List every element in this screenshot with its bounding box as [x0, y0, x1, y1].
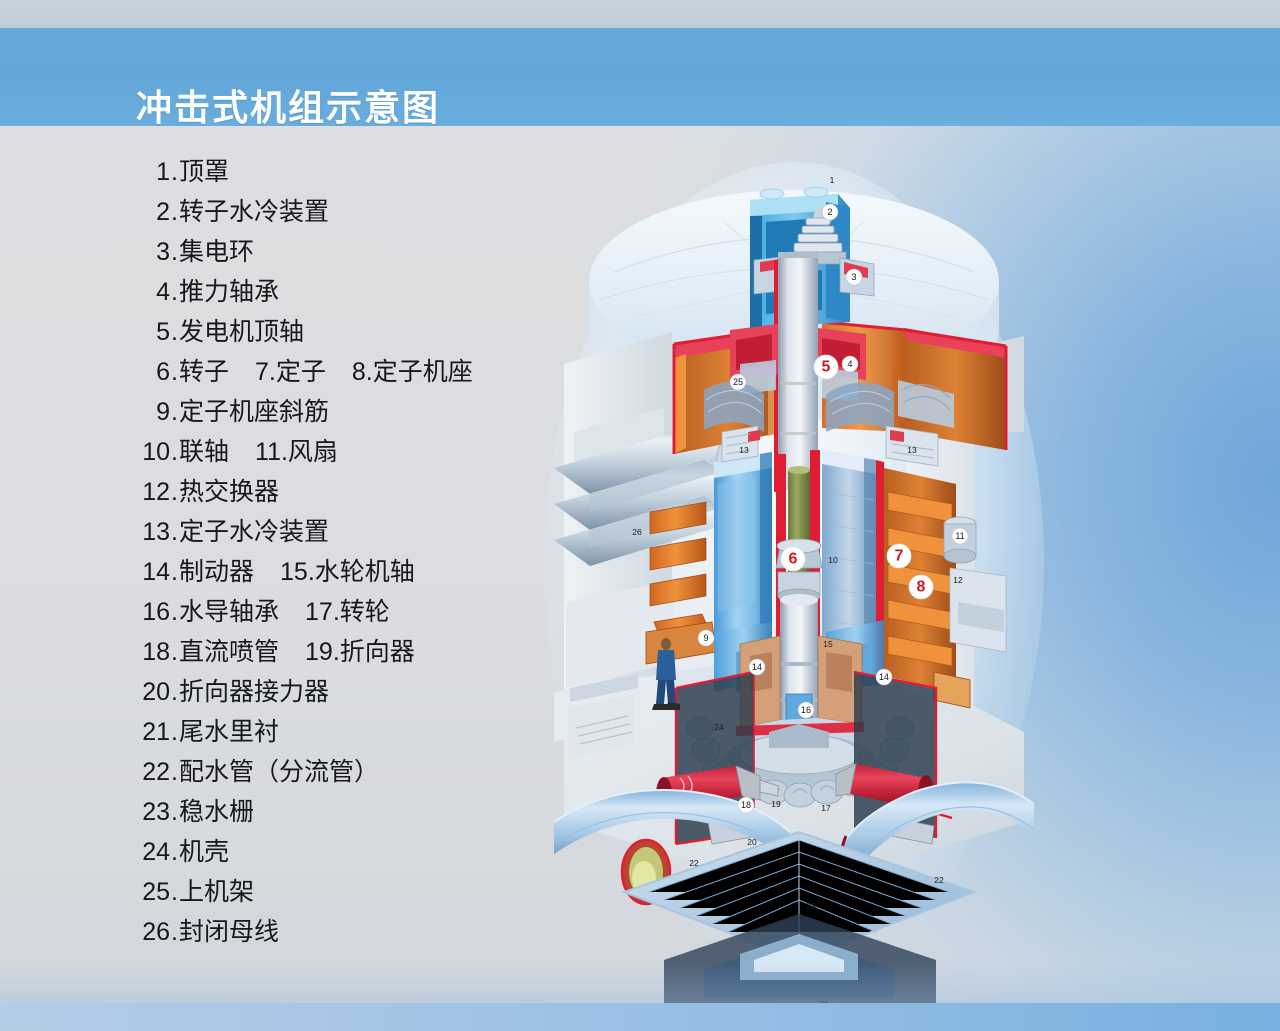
- legend-item-label: 配水管（分流管）: [179, 752, 379, 792]
- callout-marker: 24: [714, 722, 724, 732]
- legend-item-number: 22: [136, 752, 170, 792]
- legend-item-number: 15.: [280, 552, 315, 592]
- legend-item-dot: .: [170, 632, 179, 672]
- legend-item-label: 定子机座斜筋: [179, 392, 329, 432]
- legend-item-number: 6: [136, 352, 170, 392]
- legend-item-label: 折向器: [340, 632, 415, 672]
- legend-item-number: 8.: [352, 352, 373, 392]
- legend-item-number: 21: [136, 712, 170, 752]
- legend-item-inline: 17.转轮: [305, 592, 390, 632]
- callout-marker: 15: [823, 639, 833, 649]
- callout-marker: 13: [907, 445, 917, 455]
- legend-item-number: 5: [136, 312, 170, 352]
- callout-number: 13: [739, 445, 749, 455]
- bottom-band: [0, 1003, 1280, 1031]
- callout-marker: 22: [934, 875, 944, 885]
- legend-item-number: 16: [136, 592, 170, 632]
- legend-item-dot: .: [170, 432, 179, 472]
- callout-number: 19: [771, 799, 781, 809]
- callout-number: 22: [934, 875, 944, 885]
- legend-item-inline: 19.折向器: [305, 632, 415, 672]
- legend-item-label: 发电机顶轴: [179, 312, 304, 352]
- legend-item-dot: .: [170, 672, 179, 712]
- callout-number: 20: [747, 837, 757, 847]
- legend-item-label: 水轮机轴: [315, 552, 415, 592]
- legend-item-label: 转子: [179, 352, 229, 392]
- callout-marker: 8: [909, 575, 933, 599]
- callout-number: 5: [822, 359, 831, 376]
- legend-item-dot: .: [170, 872, 179, 912]
- legend-item-label: 直流喷管: [179, 632, 279, 672]
- top-strip: [0, 0, 1280, 28]
- callout-number: 11: [955, 531, 964, 541]
- machine-cutaway-illustration: 1234567891011121313141415161718192021222…: [444, 132, 1144, 1022]
- callout-number: 13: [907, 445, 917, 455]
- callout-marker: 26: [632, 527, 642, 537]
- callout-number: 17: [821, 803, 831, 813]
- legend-item-number: 12: [136, 472, 170, 512]
- legend-item-label: 转子水冷装置: [179, 192, 329, 232]
- legend-item-dot: .: [170, 272, 179, 312]
- legend-item-number: 4: [136, 272, 170, 312]
- legend-item-number: 24: [136, 832, 170, 872]
- legend-item-number: 7.: [255, 352, 276, 392]
- legend-item-number: 25: [136, 872, 170, 912]
- legend-item-inline: 11.风扇: [255, 432, 338, 472]
- bottom-fade: [0, 963, 1280, 1003]
- callout-marker: 14: [749, 659, 765, 675]
- callout-marker: 17: [821, 803, 831, 813]
- legend-item-dot: .: [170, 592, 179, 632]
- legend-item-dot: .: [170, 752, 179, 792]
- callout-marker: 25: [730, 374, 746, 390]
- callout-marker: 10: [828, 555, 838, 565]
- legend-item-label: 上机架: [179, 872, 254, 912]
- legend-item-number: 23: [136, 792, 170, 832]
- legend-item-label: 水导轴承: [179, 592, 279, 632]
- callout-number: 9: [703, 633, 708, 643]
- legend-item-label: 集电环: [179, 232, 254, 272]
- legend-item-label: 尾水里衬: [179, 712, 279, 752]
- legend-item-number: 26: [136, 912, 170, 952]
- legend-item-label: 折向器接力器: [179, 672, 329, 712]
- callout-number: 26: [632, 527, 642, 537]
- legend-item-number: 18: [136, 632, 170, 672]
- callout-marker: 6: [781, 547, 805, 571]
- legend-item-number: 14: [136, 552, 170, 592]
- callout-number: 16: [801, 705, 811, 715]
- legend-item-dot: .: [170, 232, 179, 272]
- legend-item-number: 20: [136, 672, 170, 712]
- legend-item-label: 转轮: [340, 592, 390, 632]
- callout-marker: 20: [747, 837, 757, 847]
- slide-canvas: 冲击式机组示意图 1.顶罩2.转子水冷装置3.集电环4.推力轴承5.发电机顶轴6…: [0, 0, 1280, 1031]
- legend-item-label: 稳水栅: [179, 792, 254, 832]
- legend-item-label: 推力轴承: [179, 272, 279, 312]
- callout-marker: 5: [814, 355, 838, 379]
- callout-number: 1: [830, 175, 835, 185]
- callout-marker: 23: [806, 901, 816, 911]
- legend-item-dot: .: [170, 712, 179, 752]
- callout-marker: 13: [739, 445, 749, 455]
- callout-marker: 14: [876, 669, 892, 685]
- callout-marker: 22: [689, 858, 699, 868]
- legend-item-label: 定子: [276, 352, 326, 392]
- callout-marker: 16: [798, 702, 814, 718]
- callout-number: 25: [733, 377, 743, 387]
- legend-item-inline: 7.定子: [255, 352, 326, 392]
- callout-number: 22: [689, 858, 699, 868]
- legend-item-number: 10: [136, 432, 170, 472]
- callout-marker: 9: [698, 630, 714, 646]
- legend-item-label: 热交换器: [179, 472, 279, 512]
- callout-number: 6: [789, 551, 798, 568]
- callout-number: 4: [847, 359, 852, 369]
- legend-item-number: 1: [136, 152, 170, 192]
- callout-number: 8: [917, 579, 926, 596]
- callout-number: 18: [741, 800, 751, 810]
- legend-item-dot: .: [170, 552, 179, 592]
- legend-item-dot: .: [170, 472, 179, 512]
- legend-item-dot: .: [170, 152, 179, 192]
- legend-item-inline: 15.水轮机轴: [280, 552, 415, 592]
- callout-marker: 11: [952, 528, 968, 544]
- callout-number: 14: [752, 662, 762, 672]
- callout-number: 23: [806, 901, 816, 911]
- callout-marker: 1: [830, 175, 835, 185]
- callout-number: 2: [827, 207, 832, 217]
- callout-number: 12: [953, 575, 963, 585]
- title-banner: 冲击式机组示意图: [0, 28, 1280, 126]
- page-title: 冲击式机组示意图: [136, 88, 440, 128]
- legend-item-dot: .: [170, 792, 179, 832]
- legend-item-label: 制动器: [179, 552, 254, 592]
- legend-item-number: 17.: [305, 592, 340, 632]
- callout-marker: 4: [842, 356, 858, 372]
- callout-marker: 19: [771, 799, 781, 809]
- legend-item-dot: .: [170, 912, 179, 952]
- legend-item-dot: .: [170, 392, 179, 432]
- callout-marker: 2: [822, 204, 838, 220]
- legend-item-label: 顶罩: [179, 152, 229, 192]
- callout-number: 24: [714, 722, 724, 732]
- callout-marker: 12: [953, 575, 963, 585]
- legend-item-number: 13: [136, 512, 170, 552]
- callout-number: 7: [895, 548, 904, 565]
- callout-number: 3: [851, 272, 856, 282]
- legend-item-label: 机壳: [179, 832, 229, 872]
- callout-marker: 7: [887, 544, 911, 568]
- legend-item-dot: .: [170, 352, 179, 392]
- legend-item-dot: .: [170, 832, 179, 872]
- legend-item-number: 19.: [305, 632, 340, 672]
- callout-number: 15: [823, 639, 833, 649]
- legend-item-dot: .: [170, 512, 179, 552]
- legend-item-dot: .: [170, 192, 179, 232]
- legend-item-number: 2: [136, 192, 170, 232]
- legend-item-label: 风扇: [288, 432, 338, 472]
- legend-item-label: 定子水冷装置: [179, 512, 329, 552]
- legend-item-label: 联轴: [179, 432, 229, 472]
- legend-item-number: 3: [136, 232, 170, 272]
- legend-item-number: 9: [136, 392, 170, 432]
- legend-item-dot: .: [170, 312, 179, 352]
- callout-number: 14: [879, 672, 889, 682]
- legend-item-label: 封闭母线: [179, 912, 279, 952]
- callout-number: 10: [828, 555, 838, 565]
- callout-marker: 3: [846, 269, 862, 285]
- legend-item-number: 11.: [255, 432, 288, 472]
- callout-marker: 18: [738, 797, 754, 813]
